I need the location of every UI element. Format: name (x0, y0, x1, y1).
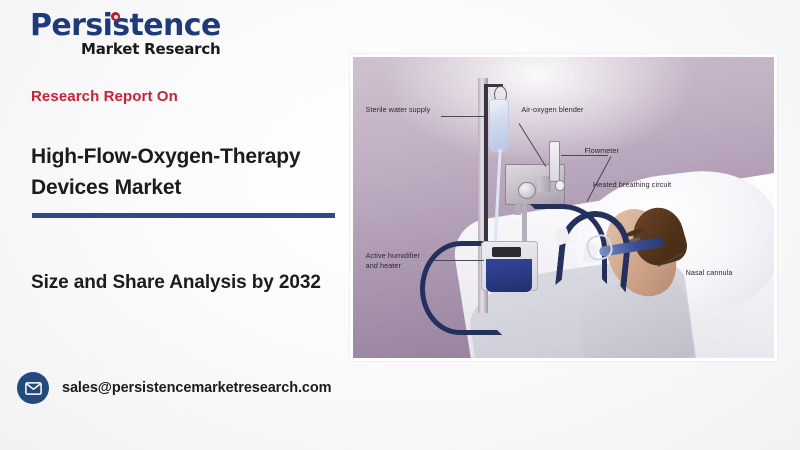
report-kicker: Research Report On (31, 88, 178, 105)
figure-label-heated-breathing-circuit: Heated breathing circuit (593, 180, 671, 190)
report-banner: Persistence Market Research Research Rep… (0, 0, 800, 450)
contact-email[interactable]: sales@persistencemarketresearch.com (62, 380, 331, 396)
humidifier-display (492, 247, 521, 257)
leader-line-sterile-water (441, 116, 483, 117)
leader-line-blender (519, 123, 547, 166)
blender-dial (518, 182, 535, 199)
brand-tagline: Market Research (81, 40, 221, 58)
brand-logo[interactable]: Persistence Market Research (30, 10, 240, 58)
flowmeter-tube (549, 141, 560, 182)
registered-mark-icon (111, 12, 120, 21)
banner-left-column: Persistence Market Research Research Rep… (0, 0, 350, 450)
figure-label-sterile-water-supply: Sterile water supply (366, 105, 431, 115)
title-divider (32, 213, 335, 218)
brand-name: Persistence (30, 10, 221, 42)
sterile-water-bag (489, 99, 510, 152)
oxygen-therapy-illustration: Sterile water supply Air-oxygen blender … (353, 57, 774, 358)
figure-label-active-humidifier-and-heater: Active humidifier and heater (366, 251, 420, 270)
leader-line-humidifier (433, 260, 484, 261)
page-title: High-Flow-Oxygen-Therapy Devices Market (31, 141, 331, 203)
humidifier-heater-base (486, 259, 532, 292)
report-subtitle: Size and Share Analysis by 2032 (31, 268, 331, 297)
contact-row[interactable]: sales@persistencemarketresearch.com (17, 371, 331, 405)
figure-label-air-oxygen-blender: Air-oxygen blender (521, 105, 583, 115)
envelope-icon (17, 372, 49, 404)
blender-foot (515, 203, 521, 215)
figure-label-nasal-cannula: Nasal cannula (686, 268, 733, 278)
figure-frame: Sterile water supply Air-oxygen blender … (350, 54, 777, 361)
figure-label-flowmeter: Flowmeter (585, 146, 619, 156)
